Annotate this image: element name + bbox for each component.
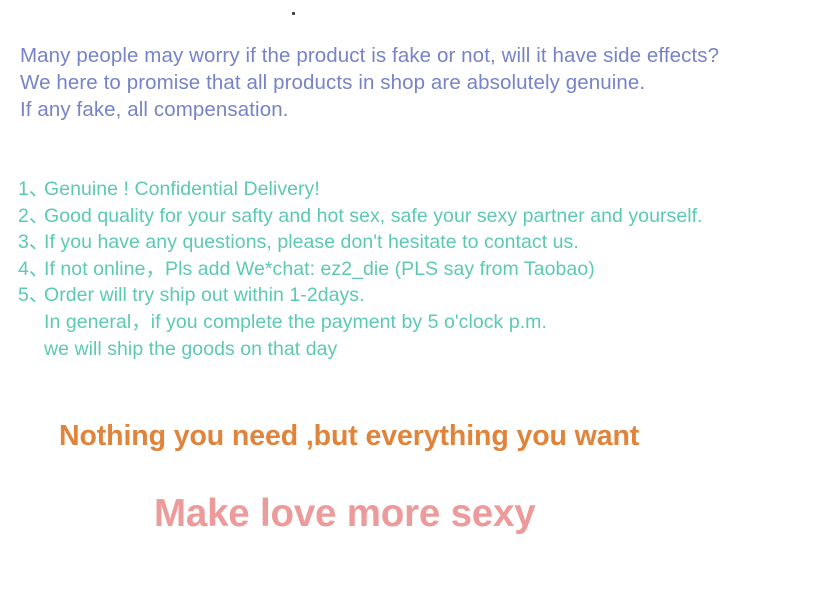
list-item-number: 1、 — [18, 176, 44, 203]
list-item-label: If not online，Pls add We*chat: ez2_die (… — [44, 256, 595, 283]
list-item: 2、 Good quality for your safty and hot s… — [18, 203, 813, 230]
promo-banner: Many people may worry if the product is … — [0, 0, 816, 612]
list-item-label: If you have any questions, please don't … — [44, 229, 579, 256]
intro-line-1: Many people may worry if the product is … — [20, 42, 810, 69]
intro-line-2: We here to promise that all products in … — [20, 69, 810, 96]
list-item-continuation: we will ship the goods on that day — [18, 336, 813, 363]
list-item: 1、 Genuine ! Confidential Delivery! — [18, 176, 813, 203]
slogan-secondary: Make love more sexy — [154, 492, 535, 536]
list-item-number: 2、 — [18, 203, 44, 230]
list-item-number: 5、 — [18, 282, 44, 309]
promise-list: 1、 Genuine ! Confidential Delivery! 2、 G… — [18, 176, 813, 362]
list-item-label: Order will try ship out within 1-2days. — [44, 282, 365, 309]
list-item: 4、 If not online，Pls add We*chat: ez2_di… — [18, 256, 813, 283]
scan-speck-artifact — [292, 12, 295, 15]
list-item-label: Genuine ! Confidential Delivery! — [44, 176, 320, 203]
list-item-continuation: In general，if you complete the payment b… — [18, 309, 813, 336]
list-item: 5、 Order will try ship out within 1-2day… — [18, 282, 813, 309]
list-item-label: Good quality for your safty and hot sex,… — [44, 203, 703, 230]
list-item-number: 4、 — [18, 256, 44, 283]
slogan-primary: Nothing you need ,but everything you wan… — [59, 420, 639, 453]
intro-paragraph: Many people may worry if the product is … — [20, 42, 810, 123]
intro-line-3: If any fake, all compensation. — [20, 96, 810, 123]
list-item: 3、 If you have any questions, please don… — [18, 229, 813, 256]
list-item-number: 3、 — [18, 229, 44, 256]
